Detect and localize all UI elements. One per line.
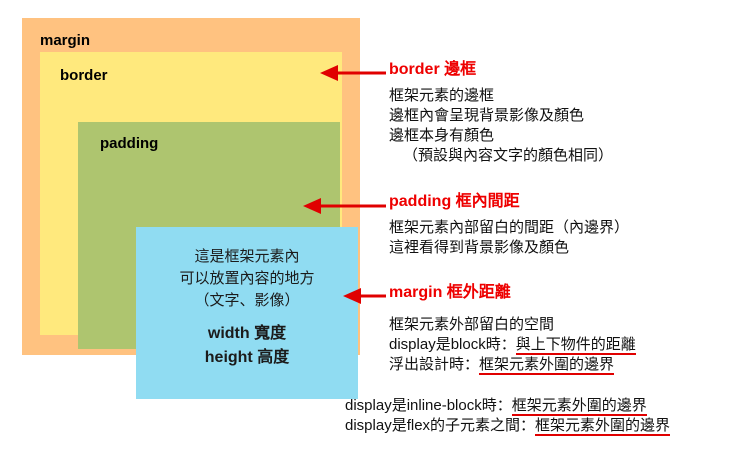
- annotation-border-line: 邊框內會呈現背景影像及顏色: [389, 106, 613, 126]
- annotation-margin-line-prefix: 浮出設計時：: [389, 356, 479, 373]
- content-description-line: 這是框架元素內: [136, 246, 358, 268]
- padding-layer: padding 這是框架元素內 可以放置內容的地方 （文字、影像） width …: [78, 122, 340, 349]
- content-width-label: width 寬度: [136, 322, 358, 346]
- annotation-margin-line: 浮出設計時：框架元素外圍的邊界: [389, 355, 636, 375]
- margin-layer-label: margin: [40, 33, 90, 48]
- margin-pointer-arrow: [341, 285, 390, 307]
- annotation-border-line: 框架元素的邊框: [389, 86, 613, 106]
- content-layer: 這是框架元素內 可以放置內容的地方 （文字、影像） width 寬度 heigh…: [136, 227, 358, 399]
- annotation-border-line: 邊框本身有顏色: [389, 126, 613, 146]
- annotation-margin-line: display是block時：與上下物件的距離: [389, 335, 636, 355]
- margin-extra-line-underlined: 框架元素外圍的邊界: [512, 397, 647, 416]
- border-layer: border padding 這是框架元素內 可以放置內容的地方 （文字、影像）…: [40, 52, 342, 335]
- annotation-padding-line: 這裡看得到背景影像及顏色: [389, 238, 629, 258]
- margin-extra-line-prefix: display是flex的子元素之間：: [345, 417, 535, 434]
- border-pointer-arrow: [318, 62, 390, 84]
- content-description: 這是框架元素內 可以放置內容的地方 （文字、影像）: [136, 246, 358, 312]
- content-dimensions: width 寬度 height 高度: [136, 322, 358, 370]
- annotation-border-line: （預設與內容文字的顏色相同）: [389, 146, 613, 166]
- annotation-margin-line-underlined: 與上下物件的距離: [516, 336, 636, 355]
- annotation-margin: margin 框外距離 框架元素外部留白的空間 display是block時：與…: [389, 283, 636, 375]
- annotation-margin-line-underlined: 框架元素外圍的邊界: [479, 356, 614, 375]
- content-description-line: 可以放置內容的地方: [136, 268, 358, 290]
- annotation-padding-line: 框架元素內部留白的間距（內邊界）: [389, 218, 629, 238]
- margin-layer: margin border padding 這是框架元素內 可以放置內容的地方 …: [22, 18, 360, 355]
- padding-pointer-arrow: [301, 195, 390, 217]
- margin-extra-notes: display是inline-block時：框架元素外圍的邊界 display是…: [345, 396, 670, 436]
- margin-extra-line-prefix: display是inline-block時：: [345, 397, 512, 414]
- margin-extra-line: display是flex的子元素之間：框架元素外圍的邊界: [345, 416, 670, 436]
- content-description-line: （文字、影像）: [136, 290, 358, 312]
- annotation-padding-title: padding 框內間距: [389, 192, 629, 211]
- annotation-margin-line-prefix: display是block時：: [389, 336, 516, 353]
- margin-extra-line: display是inline-block時：框架元素外圍的邊界: [345, 396, 670, 416]
- content-height-label: height 高度: [136, 346, 358, 370]
- margin-extra-line-underlined: 框架元素外圍的邊界: [535, 417, 670, 436]
- annotation-padding: padding 框內間距 框架元素內部留白的間距（內邊界） 這裡看得到背景影像及…: [389, 192, 629, 258]
- annotation-border: border 邊框 框架元素的邊框 邊框內會呈現背景影像及顏色 邊框本身有顏色 …: [389, 60, 613, 166]
- box-model-diagram: margin border padding 這是框架元素內 可以放置內容的地方 …: [22, 18, 360, 355]
- annotation-border-title: border 邊框: [389, 60, 613, 79]
- annotation-margin-title: margin 框外距離: [389, 283, 636, 302]
- border-layer-label: border: [60, 68, 108, 83]
- annotation-margin-line: 框架元素外部留白的空間: [389, 315, 636, 335]
- padding-layer-label: padding: [100, 136, 158, 151]
